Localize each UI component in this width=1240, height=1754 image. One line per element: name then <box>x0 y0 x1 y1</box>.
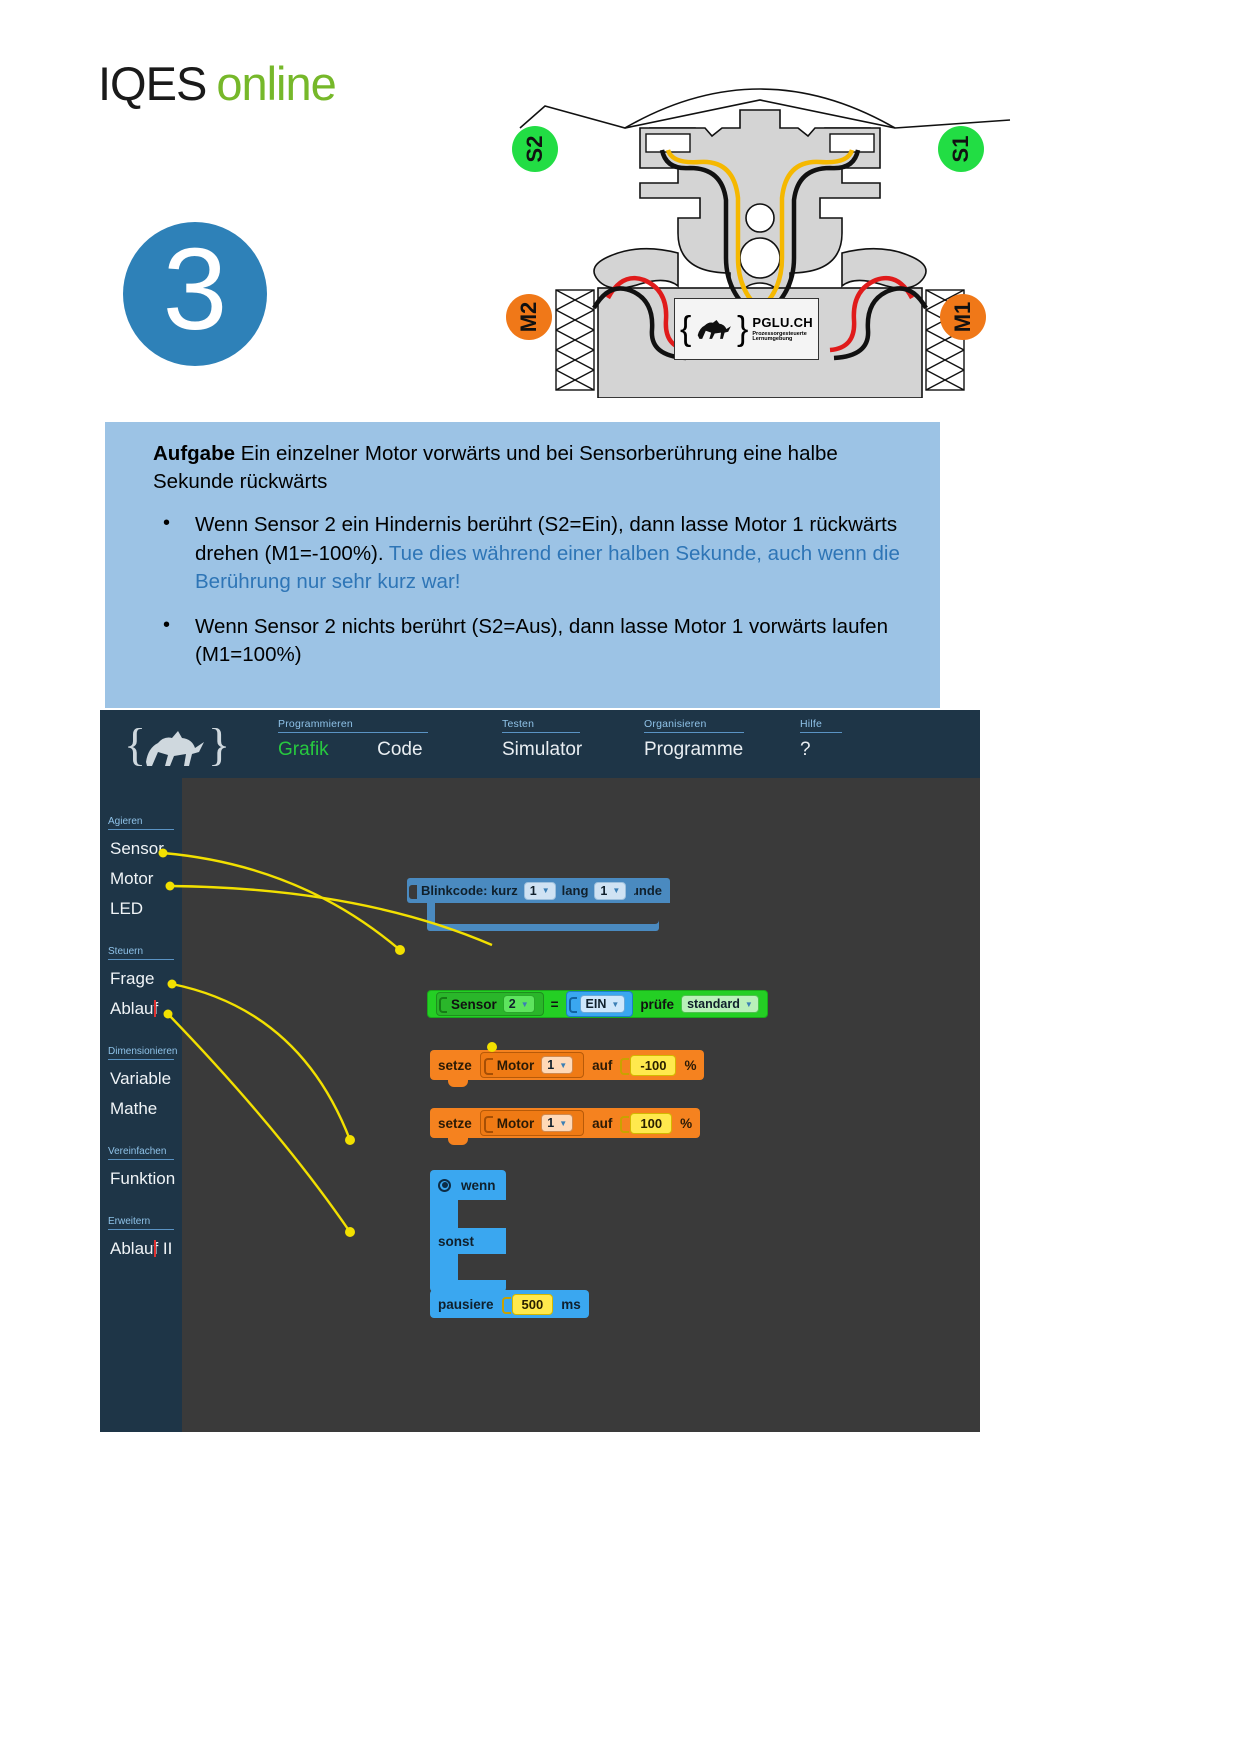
nav-items-hilfe: ? <box>800 739 855 761</box>
nav-group-label-hilfe: Hilfe <box>800 718 842 733</box>
sidebar-group-erweitern: Erweitern Ablauf II <box>100 1216 182 1264</box>
block-else-header[interactable]: sonst <box>430 1228 506 1254</box>
step-number-badge: 3 <box>123 222 267 366</box>
blinkcode-kurz-dropdown[interactable]: 1 ▼ <box>524 882 556 900</box>
block-hauptloop-foot <box>427 924 659 931</box>
motor-reverse-slot[interactable]: Motor 1 ▼ <box>480 1052 584 1078</box>
task-bullet-list: Wenn Sensor 2 ein Hindernis berührt (S2=… <box>153 511 906 669</box>
block-pause-label: pausiere <box>438 1297 494 1312</box>
tab-code[interactable]: Code <box>377 739 422 761</box>
motor-forward-amount[interactable]: 100 <box>630 1113 672 1134</box>
block-if-label: wenn <box>461 1178 496 1193</box>
brand-logo-online: online <box>216 57 335 110</box>
task-bullet-2: Wenn Sensor 2 nichts berührt (S2=Aus), d… <box>153 613 906 670</box>
nav-group-organisieren: Organisieren Programme <box>644 714 787 761</box>
app-sidebar: Agieren Sensor Motor LED Steuern Frage A… <box>100 778 182 1432</box>
block-blinkcode[interactable]: Blinkcode: kurz 1 ▼ lang 1 ▼ <box>407 878 634 903</box>
block-if-header[interactable]: wenn <box>430 1170 506 1200</box>
pause-value[interactable]: 500 <box>512 1294 554 1315</box>
sidebar-group-dimensionieren: Dimensionieren Variable Mathe <box>100 1046 182 1124</box>
sensor-state-dropdown[interactable]: EIN ▼ <box>580 995 626 1013</box>
motor-forward-number-dropdown[interactable]: 1 ▼ <box>541 1114 573 1132</box>
motor-reverse-amount[interactable]: -100 <box>630 1055 676 1076</box>
chevron-down-icon: ▼ <box>611 1000 619 1009</box>
sidebar-group-head-vereinfachen: Vereinfachen <box>108 1146 174 1160</box>
block-else-label: sonst <box>438 1234 474 1249</box>
pglu-sub2: Lernumgebung <box>752 337 813 343</box>
block-motor-reverse[interactable]: setze Motor 1 ▼ auf -100 % <box>430 1050 704 1080</box>
tab-simulator[interactable]: Simulator <box>502 739 582 761</box>
sensor-badge-s1: S1 <box>938 126 984 172</box>
motor-reverse-number-value: 1 <box>547 1058 554 1072</box>
block-if-mouth[interactable] <box>430 1200 506 1228</box>
sensor-operator: = <box>551 997 559 1012</box>
nav-group-programmieren: Programmieren Grafik Code <box>278 714 467 761</box>
chevron-down-icon: ▼ <box>542 886 550 895</box>
block-if-else[interactable]: wenn sonst <box>430 1170 506 1292</box>
chevron-down-icon: ▼ <box>559 1119 567 1128</box>
task-bullet-2-plain: Wenn Sensor 2 nichts berührt (S2=Aus), d… <box>195 615 888 666</box>
nav-group-label-testen: Testen <box>502 718 580 733</box>
motor-reverse-label: Motor <box>497 1058 535 1073</box>
sidebar-item-sensor[interactable]: Sensor <box>108 834 174 864</box>
horse-icon <box>695 316 733 342</box>
sidebar-item-mathe[interactable]: Mathe <box>108 1094 174 1124</box>
brace-left-icon: { <box>680 310 691 349</box>
block-pause-unit: ms <box>561 1297 581 1312</box>
sidebar-group-head-steuern: Steuern <box>108 946 174 960</box>
sensor-badge-s2: S2 <box>512 126 558 172</box>
block-pause[interactable]: pausiere 500 ms <box>430 1290 589 1318</box>
sensor-state-value: EIN <box>586 997 607 1011</box>
sensor-state-slot[interactable]: EIN ▼ <box>566 991 634 1017</box>
nav-group-label-programmieren: Programmieren <box>278 718 428 733</box>
sensor-check-dropdown[interactable]: standard ▼ <box>681 995 759 1013</box>
tab-hilfe[interactable]: ? <box>800 739 811 761</box>
motor-forward-unit: % <box>680 1116 692 1131</box>
app-horse-logo-icon: { } <box>122 716 232 774</box>
nav-group-hilfe: Hilfe ? <box>800 714 855 761</box>
pglu-text: PGLU.CH Prozessorgesteuerte Lernumgebung <box>752 315 813 343</box>
radio-icon[interactable] <box>438 1179 451 1192</box>
sidebar-item-ablauf-ii[interactable]: Ablauf II <box>108 1234 174 1264</box>
motor-badge-m2: M2 <box>506 294 552 340</box>
sidebar-item-variable[interactable]: Variable <box>108 1064 174 1094</box>
chevron-down-icon: ▼ <box>521 1000 529 1009</box>
block-hauptloop-mouth[interactable] <box>427 903 659 924</box>
motor-forward-number-value: 1 <box>547 1116 554 1130</box>
tab-programme[interactable]: Programme <box>644 739 743 761</box>
brand-logo: IQESonline <box>98 56 336 111</box>
pause-value-slot[interactable]: 500 <box>502 1294 554 1315</box>
nav-items-organisieren: Programme <box>644 739 787 761</box>
task-bullet-1: Wenn Sensor 2 ein Hindernis berührt (S2=… <box>153 511 906 596</box>
app-topbar: { } Programmieren Grafik Code Testen Sim… <box>100 710 980 778</box>
sensor-number-dropdown[interactable]: 2 ▼ <box>503 995 535 1013</box>
motor-reverse-unit: % <box>684 1058 696 1073</box>
sidebar-group-agieren: Agieren Sensor Motor LED <box>100 816 182 924</box>
block-blinkcode-lang-label: lang <box>562 883 589 898</box>
motor-reverse-number-dropdown[interactable]: 1 ▼ <box>541 1056 573 1074</box>
sidebar-item-motor[interactable]: Motor <box>108 864 174 894</box>
task-box: Aufgabe Ein einzelner Motor vorwärts und… <box>105 422 940 708</box>
motor-forward-prep: auf <box>592 1116 612 1131</box>
brand-logo-iqes: IQES <box>98 57 206 110</box>
motor-reverse-verb: setze <box>438 1058 472 1073</box>
chevron-down-icon: ▼ <box>612 886 620 895</box>
task-title-bold: Aufgabe <box>153 442 235 465</box>
block-blinkcode-label: Blinkcode: kurz <box>421 883 518 898</box>
sidebar-group-vereinfachen: Vereinfachen Funktion <box>100 1146 182 1194</box>
motor-reverse-amount-slot[interactable]: -100 <box>620 1055 676 1076</box>
blinkcode-lang-dropdown[interactable]: 1 ▼ <box>594 882 626 900</box>
sidebar-item-led[interactable]: LED <box>108 894 174 924</box>
sidebar-group-steuern: Steuern Frage Ablauf <box>100 946 182 1024</box>
tab-grafik[interactable]: Grafik <box>278 739 329 761</box>
pglu-app-window: { } Programmieren Grafik Code Testen Sim… <box>100 710 980 1432</box>
sensor-check-value: standard <box>687 997 740 1011</box>
block-motor-forward[interactable]: setze Motor 1 ▼ auf 100 % <box>430 1108 700 1138</box>
nav-items-testen: Simulator <box>502 739 626 761</box>
sidebar-item-ablauf[interactable]: Ablauf <box>108 994 174 1024</box>
motor-badge-m1: M1 <box>940 294 986 340</box>
motor-forward-verb: setze <box>438 1116 472 1131</box>
block-sensor-label: Sensor <box>451 997 497 1012</box>
chevron-down-icon: ▼ <box>745 1000 753 1009</box>
sidebar-item-funktion[interactable]: Funktion <box>108 1164 174 1194</box>
robot-diagram: S2 S1 M2 M1 { } PGLU.CH Prozessorgesteue… <box>490 58 1030 398</box>
task-title-rest: Ein einzelner Motor vorwärts und bei Sen… <box>153 442 838 493</box>
svg-text:}: } <box>208 719 230 770</box>
pglu-brand-plate: { } PGLU.CH Prozessorgesteuerte Lernumge… <box>674 298 819 360</box>
sidebar-group-head-erweitern: Erweitern <box>108 1216 174 1230</box>
sidebar-group-head-dimensionieren: Dimensionieren <box>108 1046 174 1060</box>
block-else-mouth[interactable] <box>430 1254 506 1280</box>
sidebar-item-frage[interactable]: Frage <box>108 964 174 994</box>
sidebar-group-head-agieren: Agieren <box>108 816 174 830</box>
motor-forward-label: Motor <box>497 1116 535 1131</box>
blinkcode-kurz-value: 1 <box>530 884 537 898</box>
sensor-number-value: 2 <box>509 997 516 1011</box>
task-title: Aufgabe Ein einzelner Motor vorwärts und… <box>153 440 906 495</box>
nav-group-label-organisieren: Organisieren <box>644 718 744 733</box>
sensor-check-label: prüfe <box>640 997 674 1012</box>
sensor-slot[interactable]: Sensor 2 ▼ <box>436 992 544 1016</box>
block-sensor-condition[interactable]: Sensor 2 ▼ = EIN ▼ prüfe standard ▼ <box>427 990 768 1018</box>
blinkcode-lang-value: 1 <box>600 884 607 898</box>
nav-group-testen: Testen Simulator <box>502 714 626 761</box>
block-canvas[interactable]: Hauptloop: 100'000 mal pro Sekunde Blink… <box>182 778 980 1432</box>
motor-forward-slot[interactable]: Motor 1 ▼ <box>480 1110 584 1136</box>
svg-text:{: { <box>124 719 146 770</box>
brace-right-icon: } <box>737 310 748 349</box>
pglu-name: PGLU.CH <box>752 315 813 330</box>
motor-reverse-prep: auf <box>592 1058 612 1073</box>
nav-items-programmieren: Grafik Code <box>278 739 467 761</box>
motor-forward-amount-slot[interactable]: 100 <box>620 1113 672 1134</box>
chevron-down-icon: ▼ <box>559 1061 567 1070</box>
